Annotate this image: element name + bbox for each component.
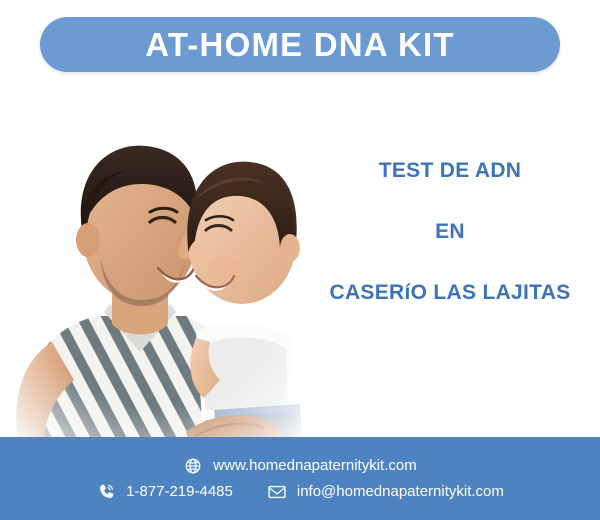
- headline-line-3: CASERíO LAS LAJITAS: [300, 282, 600, 303]
- family-photo: [0, 80, 310, 445]
- footer-row-phone-email: 1-877-219-4485 info@homednapaternitykit.…: [96, 482, 504, 502]
- family-photo-illustration: [0, 80, 310, 445]
- website-label: www.homednapaternitykit.com: [213, 458, 416, 473]
- email-contact[interactable]: info@homednapaternitykit.com: [267, 482, 504, 502]
- envelope-icon: [267, 482, 287, 502]
- title-badge-label: AT-HOME DNA KIT: [145, 28, 454, 61]
- phone-icon: [96, 482, 116, 502]
- globe-icon: [183, 456, 203, 476]
- phone-contact[interactable]: 1-877-219-4485: [96, 482, 233, 502]
- promo-card: AT-HOME DNA KIT: [0, 0, 600, 520]
- headline-line-2: EN: [300, 221, 600, 242]
- contact-footer: www.homednapaternitykit.com 1-877-219-44…: [0, 437, 600, 520]
- headline-line-1: TEST DE ADN: [300, 160, 600, 181]
- phone-label: 1-877-219-4485: [126, 484, 233, 499]
- title-badge: AT-HOME DNA KIT: [40, 17, 560, 72]
- website-contact[interactable]: www.homednapaternitykit.com: [183, 456, 416, 476]
- footer-row-website: www.homednapaternitykit.com: [183, 456, 416, 476]
- email-label: info@homednapaternitykit.com: [297, 484, 504, 499]
- headline-block: TEST DE ADN EN CASERíO LAS LAJITAS: [300, 160, 600, 303]
